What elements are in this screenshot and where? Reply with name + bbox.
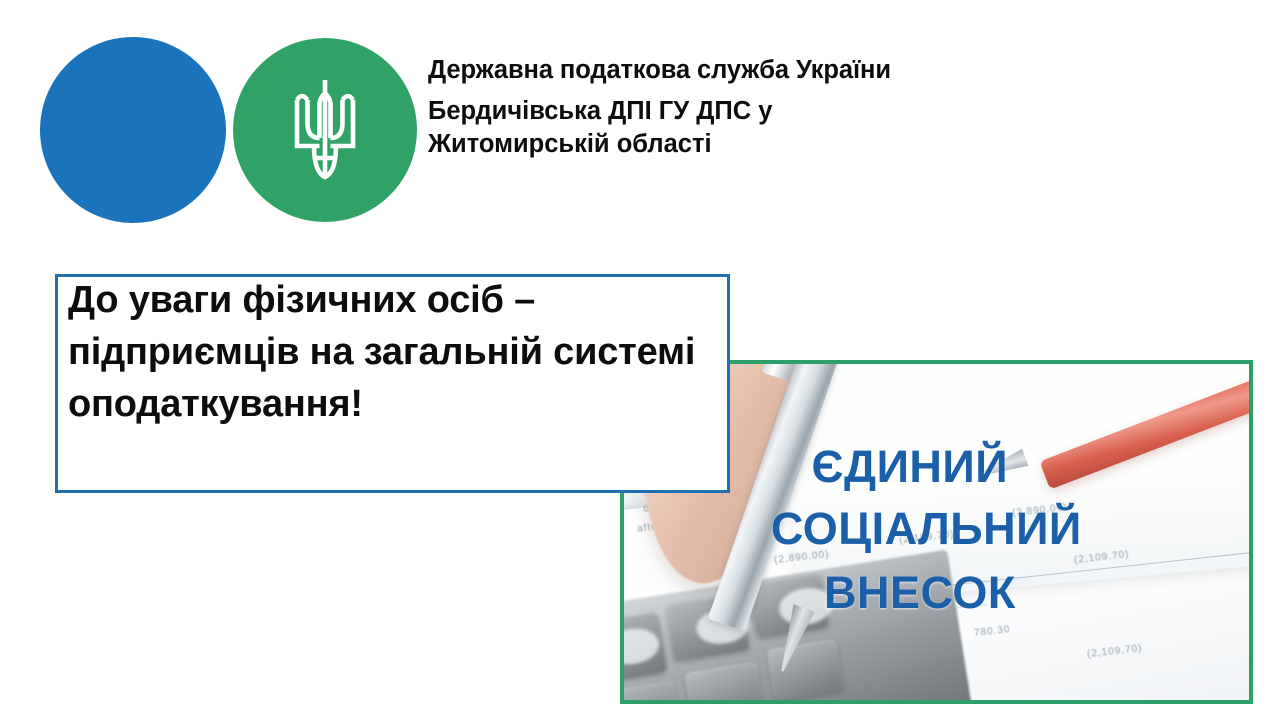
org-name-line-1: Державна податкова служба України <box>428 50 1228 90</box>
organization-title-block: Державна податкова служба України Бердич… <box>428 50 1228 161</box>
logo-blue-circle <box>40 37 226 223</box>
calculator-key <box>766 639 843 700</box>
calculator-key <box>684 661 765 700</box>
slide-canvas: Державна податкова служба України Бердич… <box>0 0 1280 720</box>
calculator-key <box>624 681 682 700</box>
title-callout-box: До уваги фізичних осіб – підприємців на … <box>55 274 730 493</box>
org-name-line-2: Бердичівська ДПІ ГУ ДПС у Житомирській о… <box>428 95 958 161</box>
ukraine-trident-emblem-icon <box>288 76 362 184</box>
page-title: До уваги фізичних осіб – підприємців на … <box>68 274 740 430</box>
